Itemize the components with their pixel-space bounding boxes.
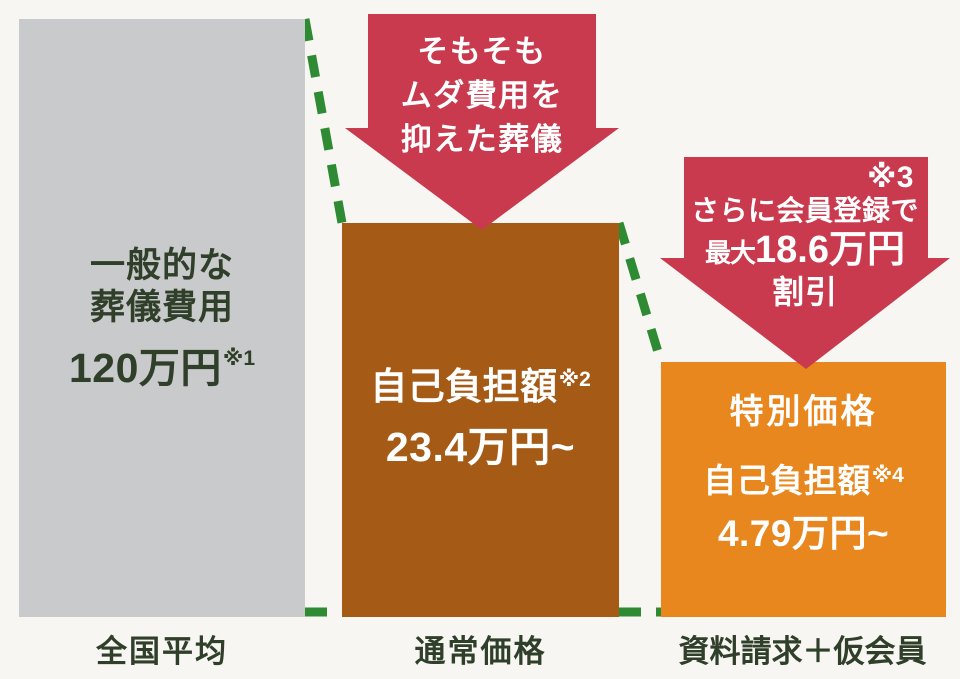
annotation-arrow-waste-text: そもそも ムダ費用を 抑えた葬儀 [345,14,619,162]
annotation-arrow-discount-text: ※3 さらに会員登録で 最大18.6万円 割引 [660,157,950,312]
annotation-arrow-waste: そもそも ムダ費用を 抑えた葬儀 [345,14,619,230]
discount-prefix: 最大 [705,238,755,268]
category-label-regular-price: 通常価格 [342,626,619,671]
bar-regular-ref-mark: ※2 [559,369,591,390]
bar-special-heading: 特別価格 [730,384,878,433]
bar-special-ref-mark: ※4 [872,465,904,486]
bar-regular-label: 自己負担額 [370,367,558,408]
bar-regular-label-row: 自己負担額 ※2 [370,367,591,408]
category-label-special-price: 資料請求＋仮会員 [650,626,955,671]
bar-regular-amount: 23.4万円~ [386,413,575,473]
discount-line-3: 割引 [660,273,950,312]
cost-comparison-chart: 一般的な 葬儀費用 120万円 ※1 自己負担額 ※2 23.4万円~ 特別価格… [0,0,960,679]
annotation-arrow-discount: ※3 さらに会員登録で 最大18.6万円 割引 [660,157,950,369]
bar-average-amount-row: 120万円 ※1 [69,346,255,391]
category-label-national-average: 全国平均 [19,626,305,671]
bar-average-amount: 120万円 [69,346,222,391]
bar-special-label: 自己負担額 [703,463,871,499]
dashed-connector-1 [305,19,342,223]
bar-special-amount: 4.79万円~ [718,503,889,557]
bar-national-average: 一般的な 葬儀費用 120万円 ※1 [19,19,305,617]
bar-special-label-row: 自己負担額 ※4 [703,463,904,499]
bar-regular-price: 自己負担額 ※2 23.4万円~ [342,223,619,617]
bar-average-title: 一般的な 葬儀費用 [90,245,234,330]
bar-special-price: 特別価格 自己負担額 ※4 4.79万円~ [661,362,946,617]
discount-ref-mark: ※3 [660,161,950,194]
discount-amount: 18.6万円 [755,229,905,271]
discount-line-1: さらに会員登録で [660,194,950,228]
dashed-connector-2 [619,223,661,362]
discount-line-2: 最大18.6万円 [660,228,950,273]
bar-average-ref-mark: ※1 [223,348,255,369]
